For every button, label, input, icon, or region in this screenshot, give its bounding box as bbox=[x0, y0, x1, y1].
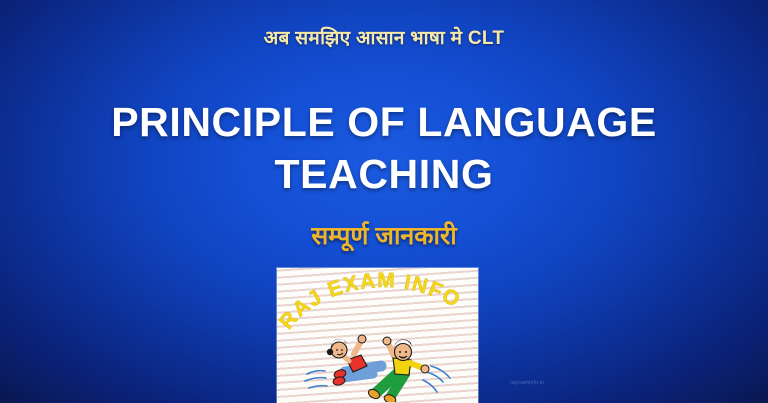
brand-text-label: RAJ EXAM INFO bbox=[277, 270, 465, 334]
page-title: PRINCIPLE OF LANGUAGE TEACHING bbox=[0, 96, 768, 201]
brand-text-path: RAJ EXAM INFO bbox=[277, 270, 465, 334]
children-illustration-icon bbox=[299, 330, 459, 402]
subtitle-text: सम्पूर्ण जानकारी bbox=[0, 218, 768, 252]
title-line-1: PRINCIPLE OF LANGUAGE bbox=[0, 96, 768, 148]
watermark-text: rajexaminfo.in bbox=[494, 380, 560, 387]
video-thumbnail: अब समझिए आसान भाषा मे CLT PRINCIPLE OF L… bbox=[0, 0, 768, 403]
brand-logo-card: RAJ EXAM INFO bbox=[277, 268, 478, 403]
banner-text: अब समझिए आसान भाषा मे CLT bbox=[0, 24, 768, 50]
title-line-2: TEACHING bbox=[0, 148, 768, 200]
